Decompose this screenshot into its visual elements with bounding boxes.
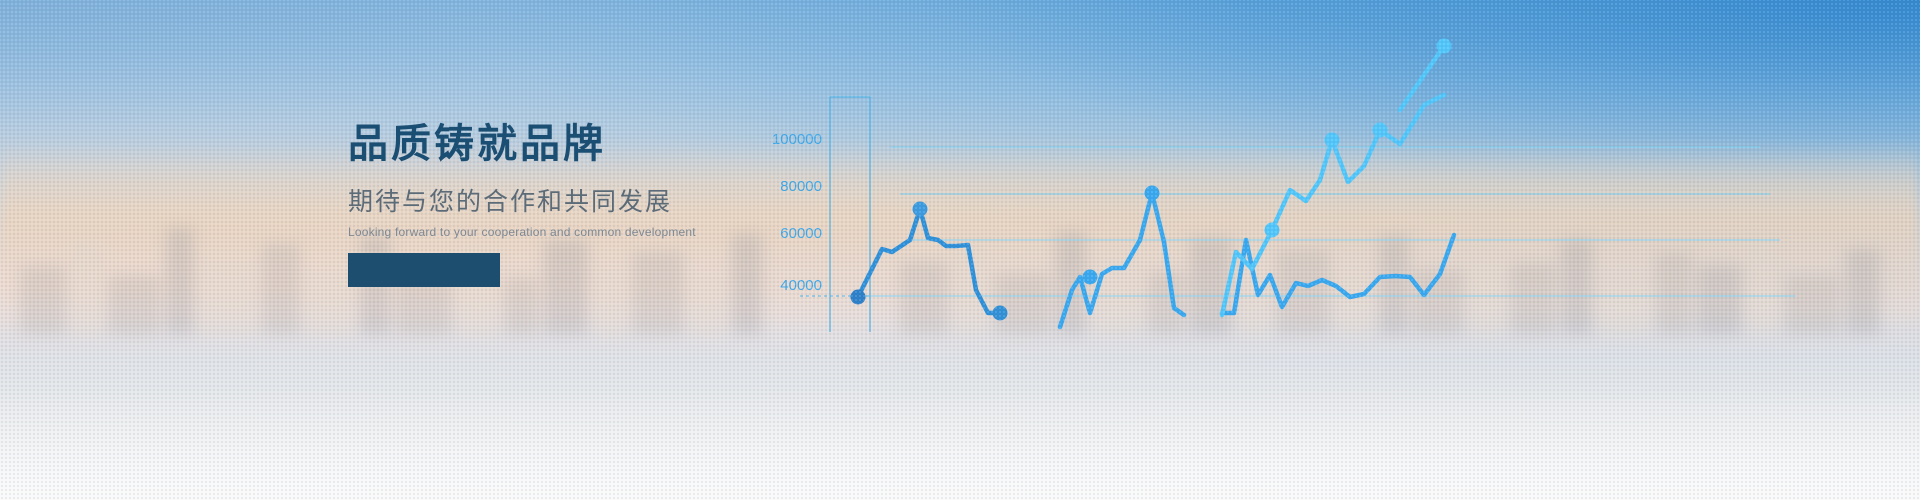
hero-banner: 100000 80000 60000 40000: [0, 0, 1920, 500]
hero-copy-block: 品质铸就品牌 期待与您的合作和共同发展 Looking forward to y…: [348, 122, 778, 239]
subheadline-cn: 期待与您的合作和共同发展: [348, 188, 778, 217]
cta-button[interactable]: [348, 253, 500, 287]
headline: 品质铸就品牌: [348, 122, 778, 166]
halftone-dot-texture-highlight: [0, 0, 1920, 500]
subheadline-en: Looking forward to your cooperation and …: [348, 225, 778, 239]
